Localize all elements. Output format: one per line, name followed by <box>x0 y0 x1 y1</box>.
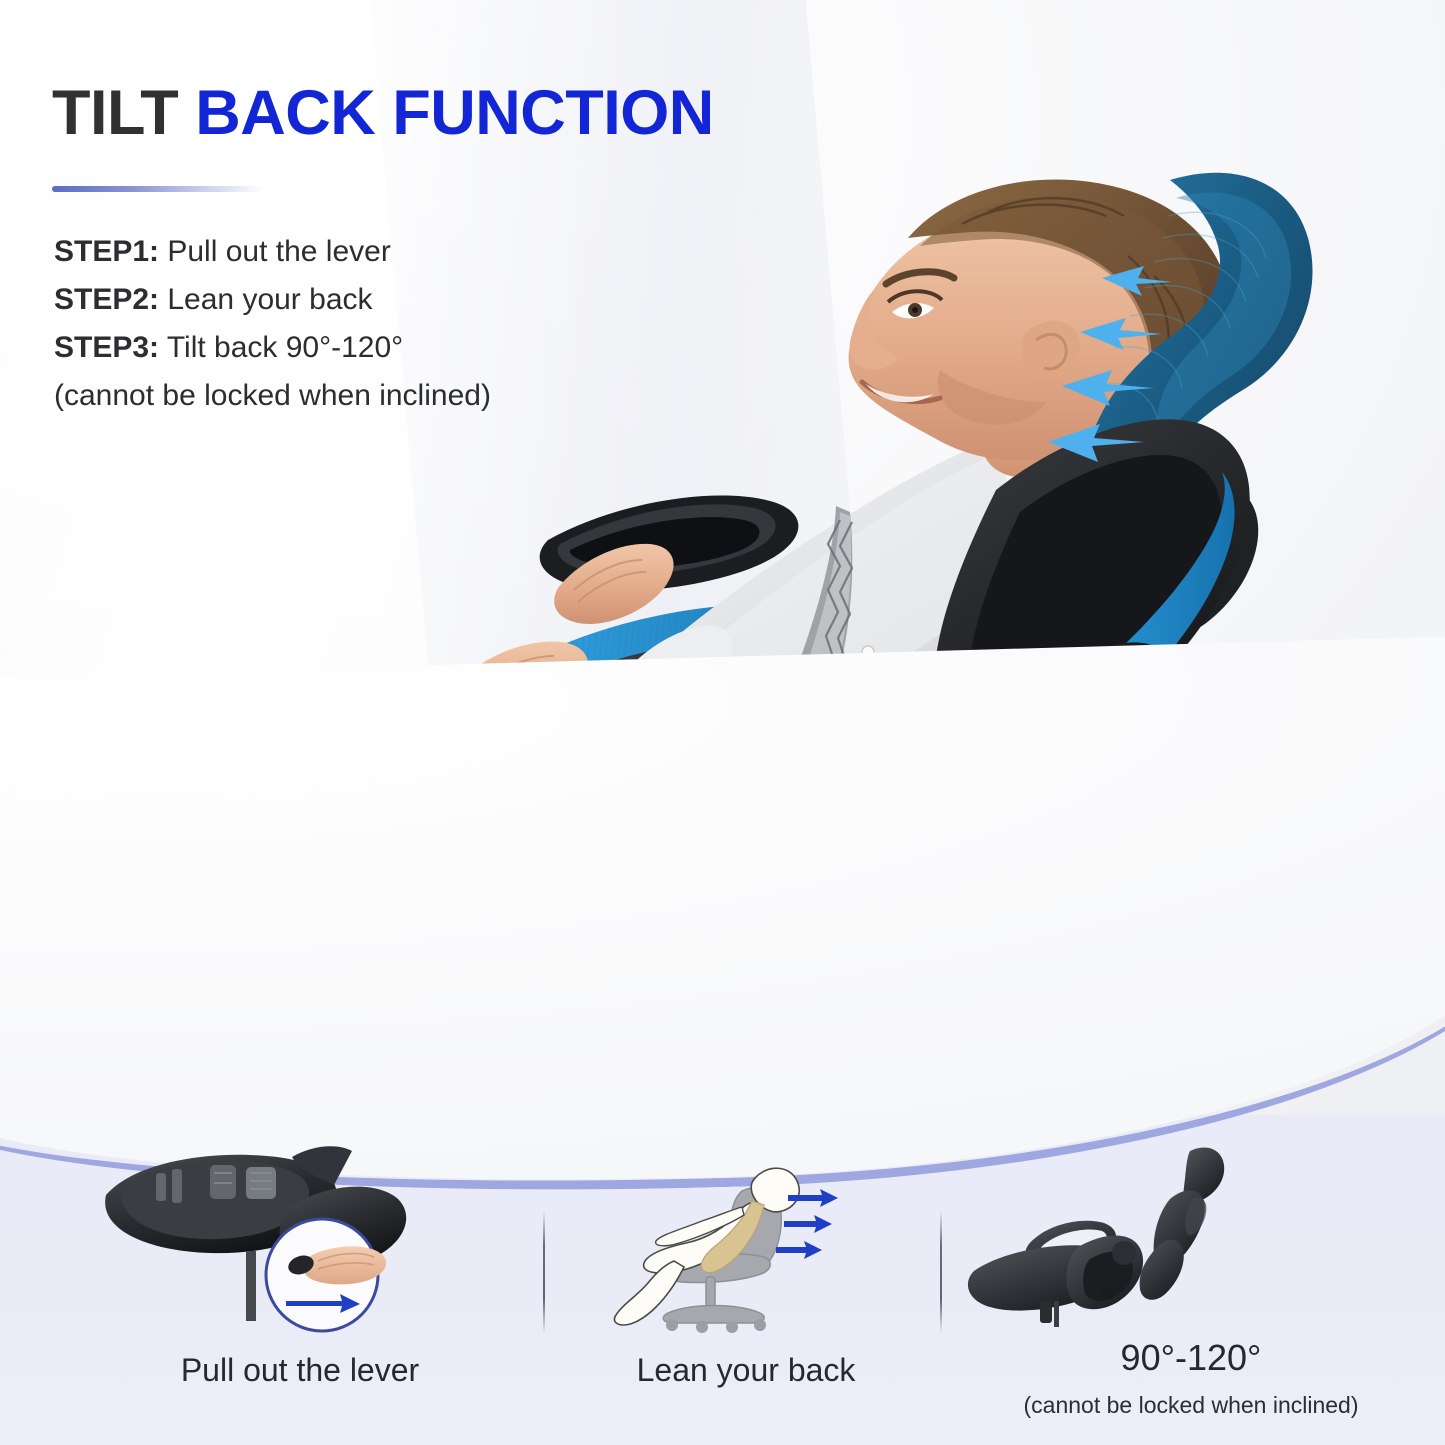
step-2-label: STEP2: <box>54 283 159 316</box>
thumbnail-row: Pull out the lever <box>0 1135 1445 1445</box>
page-title-part-2: BACK FUNCTION <box>195 78 713 148</box>
thumbnail-separator-1 <box>543 1211 545 1333</box>
step-3-text: Tilt back 90°-120° <box>159 331 403 364</box>
thumbnail-3-caption: 90°-120° <box>956 1337 1426 1379</box>
step-row-1: STEP1: Pull out the lever <box>54 228 674 276</box>
chair-tilted-side-view-thumb-icon <box>956 1143 1426 1333</box>
person-leaning-back-thumb-icon <box>556 1143 936 1333</box>
step-1-label: STEP1: <box>54 235 159 268</box>
steps-note: (cannot be locked when inclined) <box>54 372 674 420</box>
step-row-3: STEP3: Tilt back 90°-120° <box>54 324 674 372</box>
step-row-2: STEP2: Lean your back <box>54 276 674 324</box>
step-1-text: Pull out the lever <box>159 235 391 268</box>
title-divider <box>52 186 264 192</box>
page-title: TILT BACK FUNCTION <box>52 82 714 145</box>
step-3-label: STEP3: <box>54 331 159 364</box>
thumbnail-3-subcaption: (cannot be locked when inclined) <box>956 1392 1426 1419</box>
thumbnail-1-caption: Pull out the lever <box>60 1352 540 1389</box>
thumbnail-separator-2 <box>940 1211 942 1333</box>
thumbnail-2-caption: Lean your back <box>556 1352 936 1389</box>
chair-underside-lever-thumb-icon <box>60 1143 540 1333</box>
steps-list: STEP1: Pull out the lever STEP2: Lean yo… <box>54 228 674 420</box>
page-title-part-1: TILT <box>52 78 195 148</box>
step-2-text: Lean your back <box>159 283 372 316</box>
product-infographic-page: TILT BACK FUNCTION STEP1: Pull out the l… <box>0 0 1445 1445</box>
